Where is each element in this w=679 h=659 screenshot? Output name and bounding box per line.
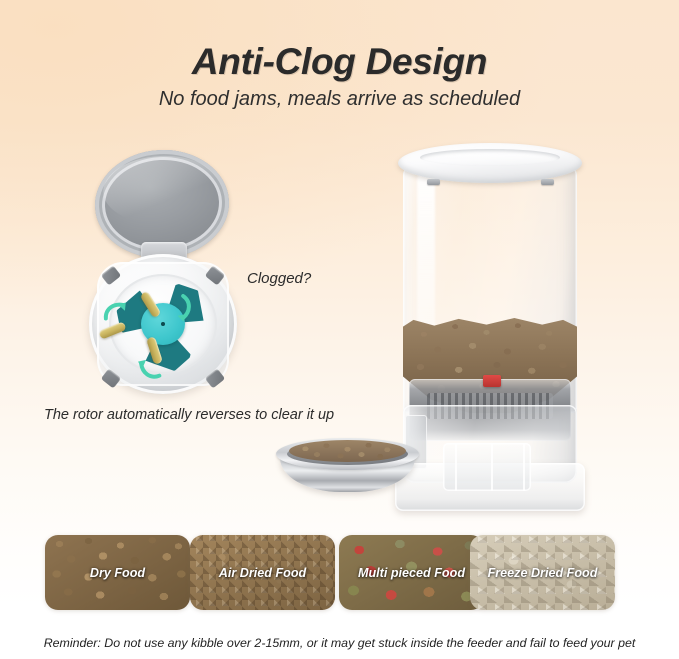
food-swatch-label: Freeze Dried Food <box>470 566 615 580</box>
clogged-callout-label: Clogged? <box>247 270 311 287</box>
food-swatch-label: Air Dried Food <box>190 566 335 580</box>
bowl-kibble <box>289 440 406 462</box>
food-swatch-label: Multi pieced Food <box>339 566 484 580</box>
rotor-diagram <box>85 150 245 400</box>
lid-latch-icon <box>541 179 554 185</box>
page-title: Anti-Clog Design <box>0 41 679 83</box>
food-type-swatch-row: Dry Food Air Dried Food Multi pieced Foo… <box>0 535 679 613</box>
rotor-caption: The rotor automatically reverses to clea… <box>44 407 334 423</box>
lid-latch-icon <box>427 179 440 185</box>
product-feature-banner: Anti-Clog Design No food jams, meals arr… <box>0 0 679 659</box>
base-rib <box>491 443 493 491</box>
mechanism-accent-marker <box>483 375 501 387</box>
base-rib <box>523 443 525 491</box>
rotor-impeller <box>117 280 209 368</box>
feeder-top-lid <box>398 143 582 183</box>
feeding-bowl <box>276 438 419 493</box>
reverse-rotation-arrow-icon <box>102 300 131 323</box>
reminder-text: Reminder: Do not use any kibble over 2-1… <box>0 636 679 650</box>
page-subtitle: No food jams, meals arrive as scheduled <box>0 88 679 111</box>
base-rib <box>455 443 457 491</box>
food-swatch-label: Dry Food <box>45 566 190 580</box>
food-swatch-air-dried: Air Dried Food <box>190 535 335 610</box>
food-swatch-dry: Dry Food <box>45 535 190 610</box>
pet-feeder-product <box>395 143 585 493</box>
food-swatch-freeze-dried: Freeze Dried Food <box>470 535 615 610</box>
food-swatch-multi-pieced: Multi pieced Food <box>339 535 484 610</box>
